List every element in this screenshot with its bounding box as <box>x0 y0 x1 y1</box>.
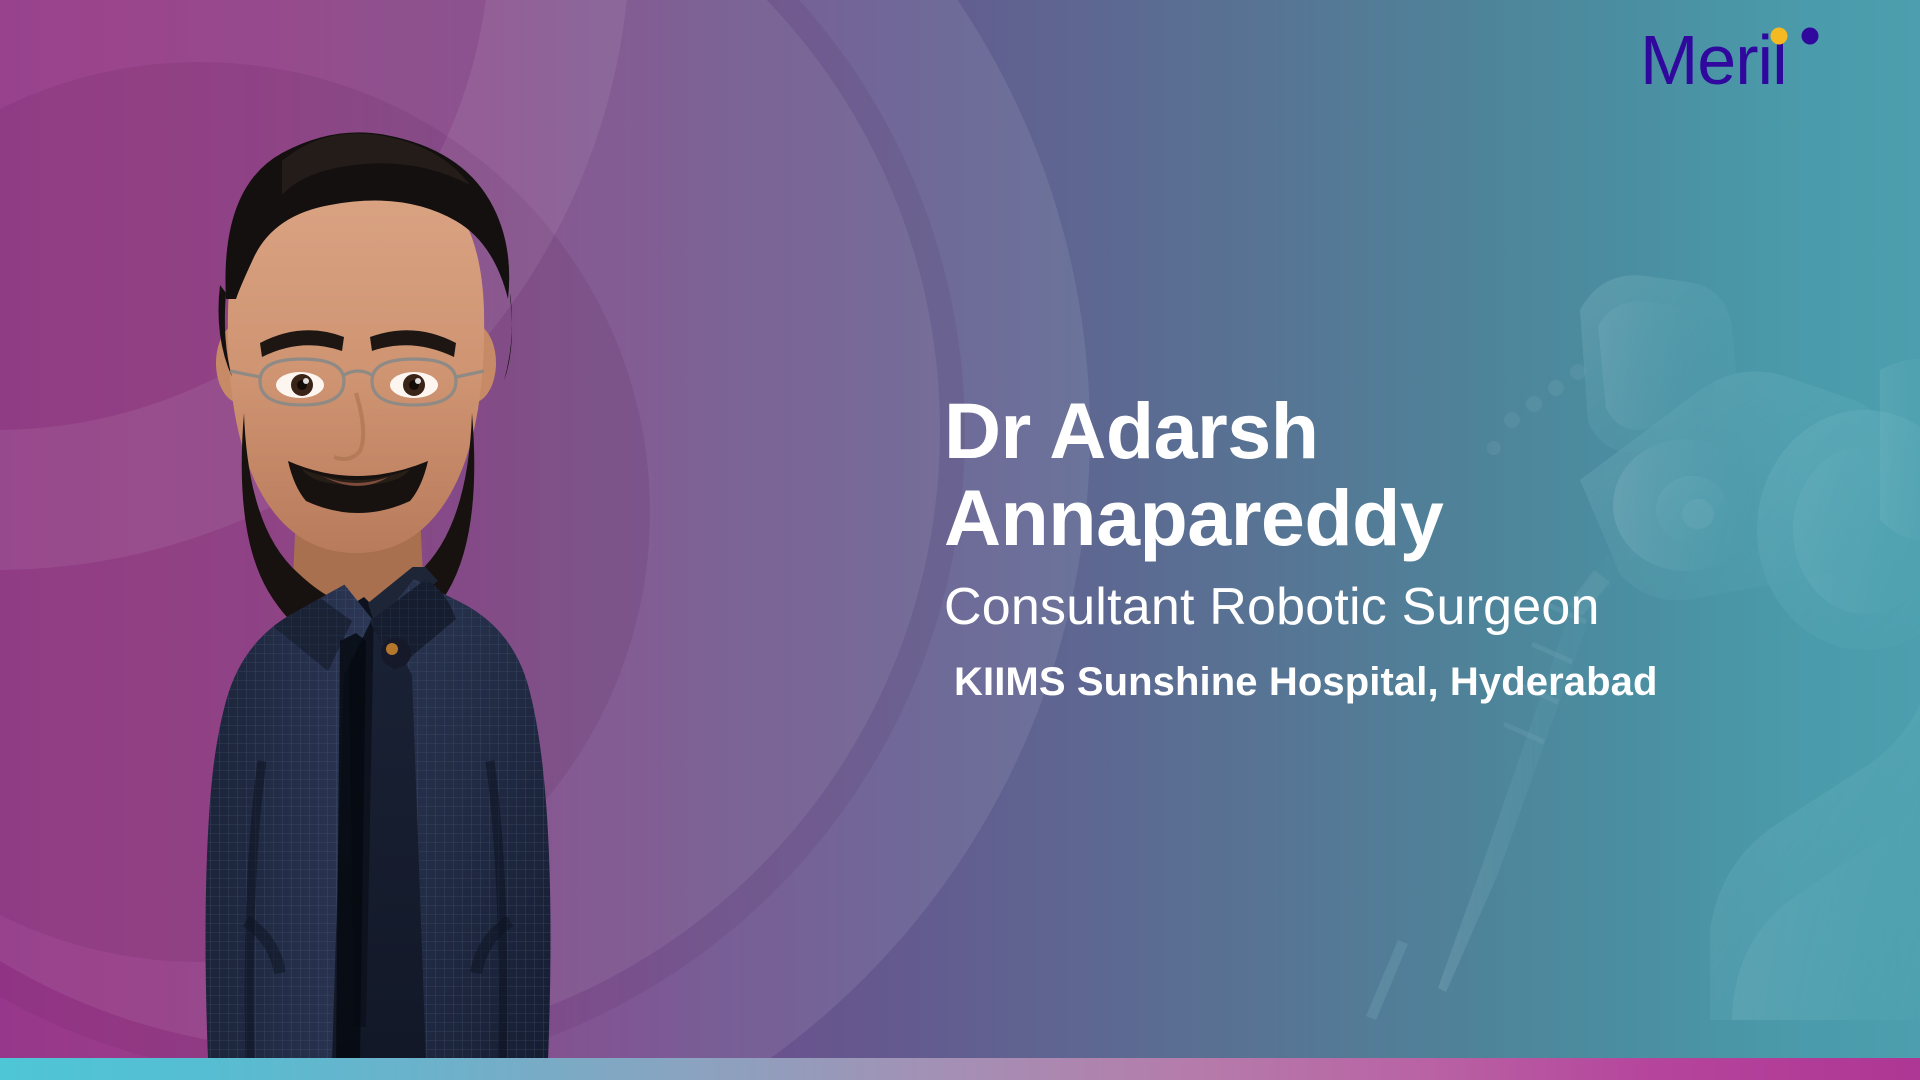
speaker-role: Consultant Robotic Surgeon <box>944 574 1824 641</box>
speaker-name-line-2: Annapareddy <box>944 475 1824 562</box>
bottom-accent-bar <box>0 1058 1920 1080</box>
speaker-intro-slide: Dr Adarsh Annapareddy Consultant Robotic… <box>0 0 1920 1080</box>
meril-logo: Meril <box>1640 18 1836 104</box>
speaker-name-line-1: Dr Adarsh <box>944 388 1824 475</box>
svg-text:Meril: Meril <box>1640 21 1787 99</box>
speaker-affiliation: KIIMS Sunshine Hospital, Hyderabad <box>954 656 1824 708</box>
speaker-text-block: Dr Adarsh Annapareddy Consultant Robotic… <box>944 388 1824 708</box>
